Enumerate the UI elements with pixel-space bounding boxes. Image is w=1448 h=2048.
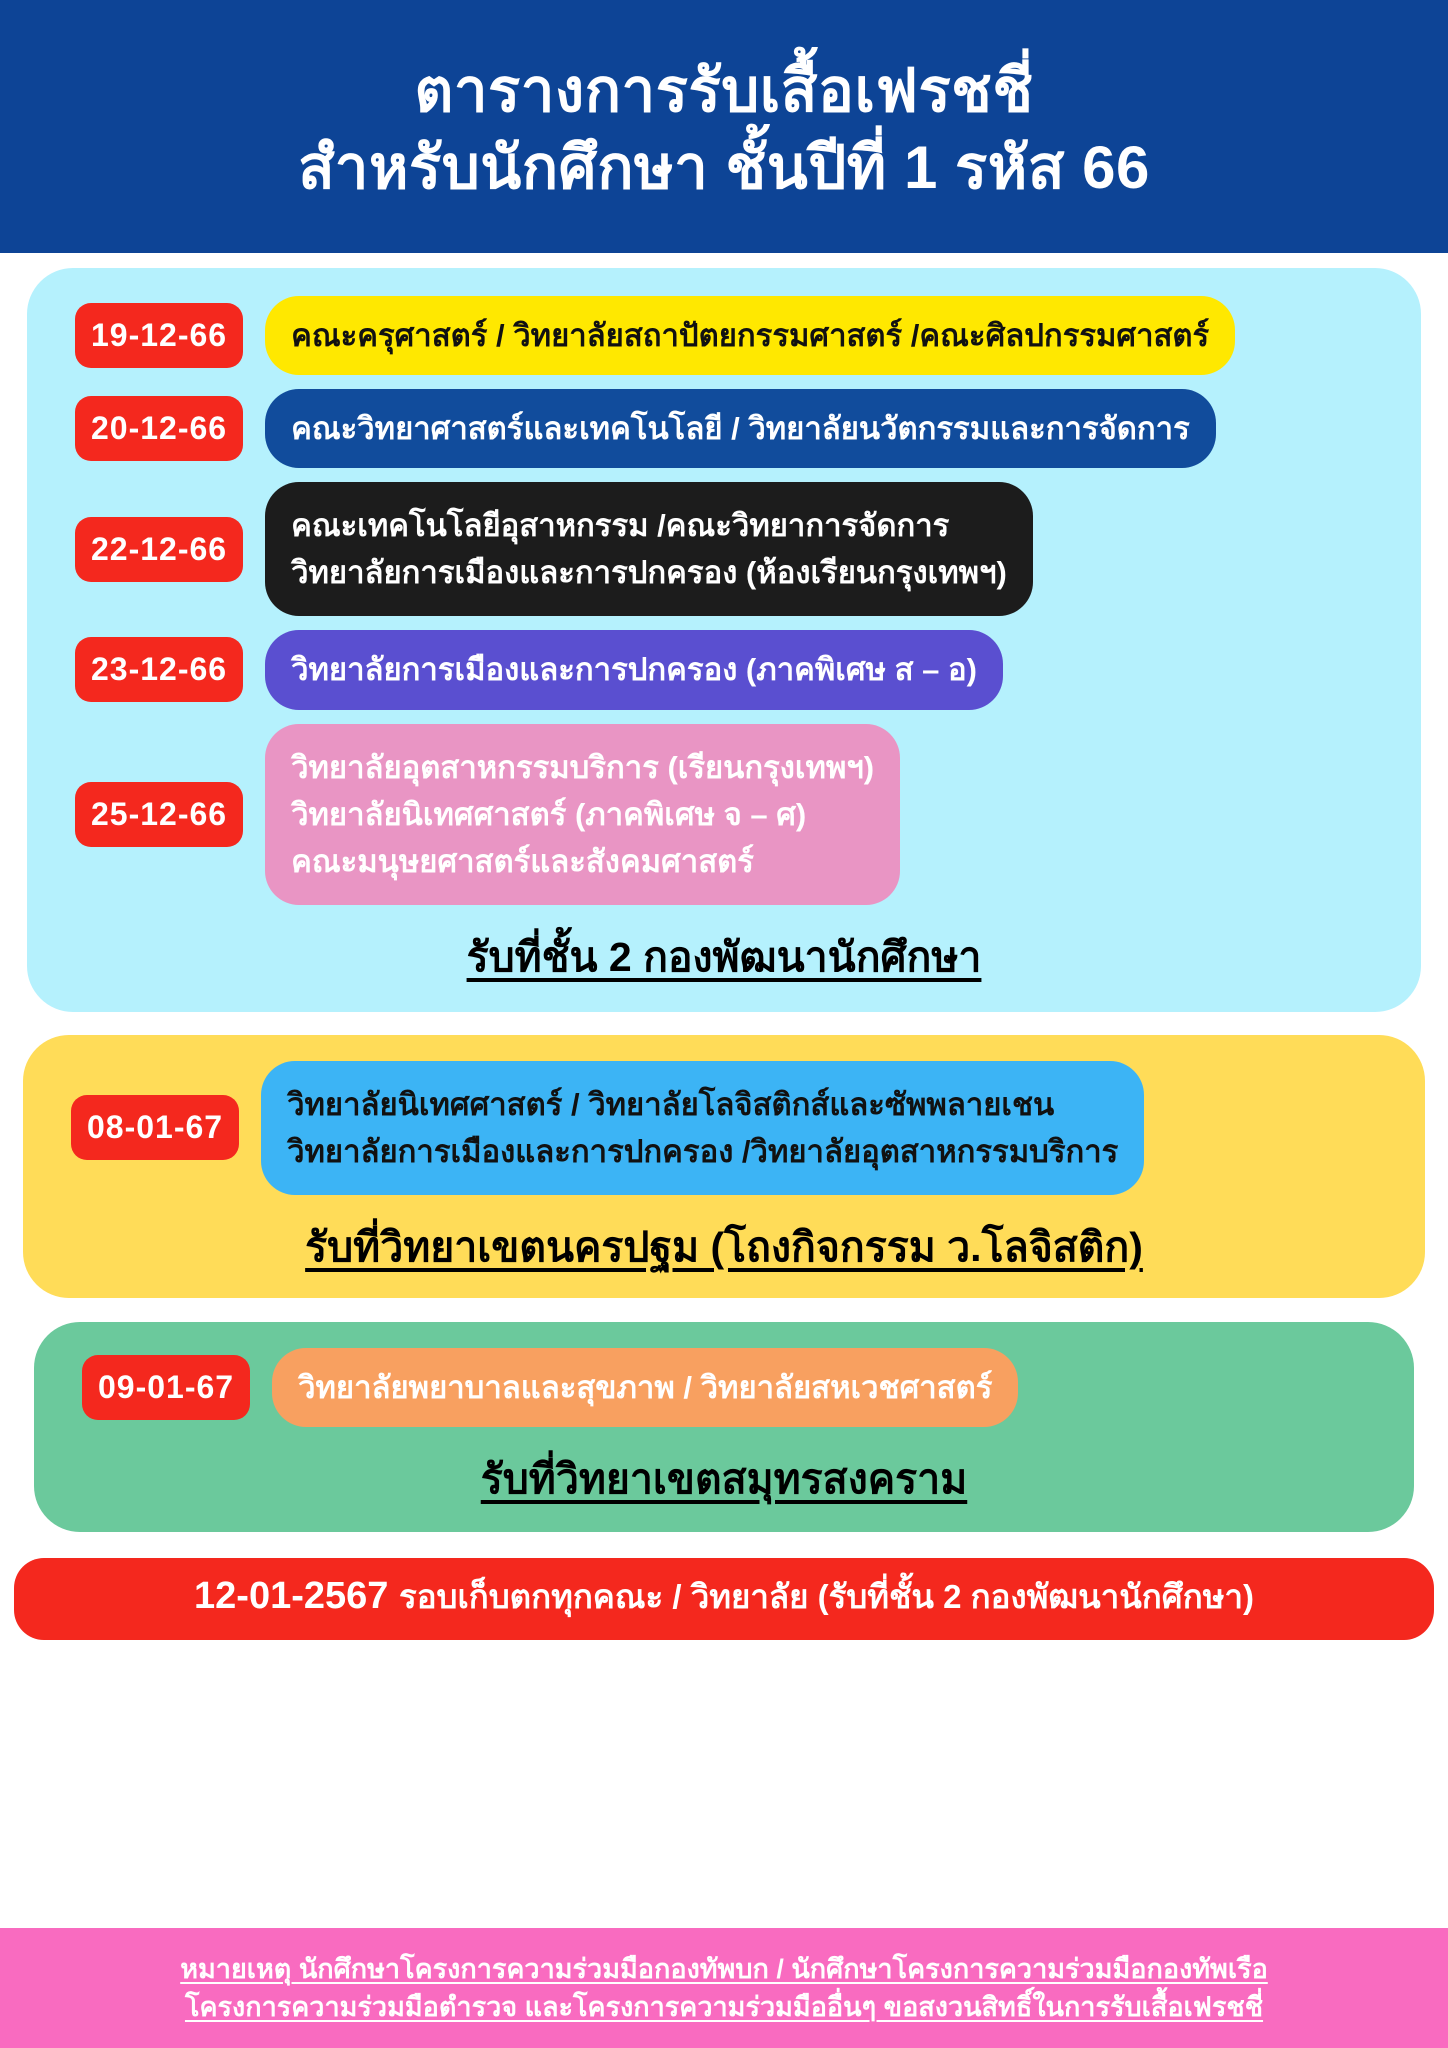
schedule-row: 20-12-66 คณะวิทยาศาสตร์และเทคโนโลยี / วิ… bbox=[27, 389, 1421, 468]
date-badge[interactable]: 20-12-66 bbox=[75, 396, 243, 461]
faculty-line: วิทยาลัยการเมืองและการปกครอง /วิทยาลัยอุ… bbox=[287, 1128, 1118, 1175]
makeup-round-detail: รอบเก็บตกทุกคณะ / วิทยาลัย (รับที่ชั้น 2… bbox=[399, 1578, 1254, 1615]
date-badge[interactable]: 09-01-67 bbox=[82, 1355, 250, 1420]
venue-label: รับที่วิทยาเขตนครปฐม (โถงกิจกรรม ว.โลจิส… bbox=[23, 1215, 1425, 1280]
schedule-row: 25-12-66 วิทยาลัยอุตสาหกรรมบริการ (เรียน… bbox=[27, 724, 1421, 905]
faculty-pill: วิทยาลัยพยาบาลและสุขภาพ / วิทยาลัยสหเวชศ… bbox=[272, 1348, 1018, 1427]
faculty-line: วิทยาลัยนิเทศศาสตร์ (ภาคพิเศษ จ – ศ) bbox=[291, 791, 874, 838]
faculty-pill: คณะเทคโนโลยีอุสาหกรรม /คณะวิทยาการจัดการ… bbox=[265, 482, 1033, 616]
faculty-line: คณะเทคโนโลยีอุสาหกรรม /คณะวิทยาการจัดการ bbox=[291, 502, 1007, 549]
venue-label: รับที่วิทยาเขตสมุทรสงคราม bbox=[34, 1447, 1414, 1512]
faculty-line: คณะวิทยาศาสตร์และเทคโนโลยี / วิทยาลัยนวั… bbox=[291, 405, 1190, 452]
footer-note-line-1: หมายเหตุ นักศึกษาโครงการความร่วมมือกองทั… bbox=[180, 1950, 1268, 1988]
makeup-round-date: 12-01-2567 bbox=[194, 1575, 388, 1617]
schedule-row: 09-01-67 วิทยาลัยพยาบาลและสุขภาพ / วิทยา… bbox=[34, 1348, 1414, 1427]
makeup-round-bar: 12-01-2567 รอบเก็บตกทุกคณะ / วิทยาลัย (ร… bbox=[14, 1558, 1434, 1640]
faculty-line: คณะครุศาสตร์ / วิทยาลัยสถาปัตยกรรมศาสตร์… bbox=[291, 312, 1209, 359]
page-title-line-2: สำหรับนักศึกษา ชั้นปีที่ 1 รหัส 66 bbox=[298, 130, 1150, 207]
faculty-line: วิทยาลัยนิเทศศาสตร์ / วิทยาลัยโลจิสติกส์… bbox=[287, 1081, 1118, 1128]
schedule-row: 19-12-66 คณะครุศาสตร์ / วิทยาลัยสถาปัตยก… bbox=[27, 296, 1421, 375]
footer-note-line-2: โครงการความร่วมมือตำรวจ และโครงการความร่… bbox=[185, 1988, 1263, 2026]
page-header: ตารางการรับเสื้อเฟรชชี่ สำหรับนักศึกษา ช… bbox=[0, 0, 1448, 253]
date-badge[interactable]: 25-12-66 bbox=[75, 782, 243, 847]
date-badge[interactable]: 22-12-66 bbox=[75, 517, 243, 582]
faculty-pill: วิทยาลัยอุตสาหกรรมบริการ (เรียนกรุงเทพฯ)… bbox=[265, 724, 900, 905]
date-badge[interactable]: 08-01-67 bbox=[71, 1095, 239, 1160]
faculty-line: วิทยาลัยการเมืองและการปกครอง (ห้องเรียนก… bbox=[291, 549, 1007, 596]
venue-label: รับที่ชั้น 2 กองพัฒนานักศึกษา bbox=[27, 925, 1421, 990]
makeup-round-text: 12-01-2567 รอบเก็บตกทุกคณะ / วิทยาลัย (ร… bbox=[14, 1574, 1434, 1620]
schedule-row: 22-12-66 คณะเทคโนโลยีอุสาหกรรม /คณะวิทยา… bbox=[27, 482, 1421, 616]
faculty-pill: วิทยาลัยการเมืองและการปกครอง (ภาคพิเศษ ส… bbox=[265, 630, 1003, 709]
footer-note: หมายเหตุ นักศึกษาโครงการความร่วมมือกองทั… bbox=[0, 1928, 1448, 2048]
faculty-pill: คณะครุศาสตร์ / วิทยาลัยสถาปัตยกรรมศาสตร์… bbox=[265, 296, 1235, 375]
faculty-line: วิทยาลัยพยาบาลและสุขภาพ / วิทยาลัยสหเวชศ… bbox=[298, 1364, 992, 1411]
schedule-section-yellow: 08-01-67 วิทยาลัยนิเทศศาสตร์ / วิทยาลัยโ… bbox=[23, 1035, 1425, 1298]
schedule-section-green: 09-01-67 วิทยาลัยพยาบาลและสุขภาพ / วิทยา… bbox=[34, 1322, 1414, 1532]
schedule-row: 08-01-67 วิทยาลัยนิเทศศาสตร์ / วิทยาลัยโ… bbox=[23, 1061, 1425, 1195]
faculty-line: วิทยาลัยการเมืองและการปกครอง (ภาคพิเศษ ส… bbox=[291, 646, 977, 693]
faculty-line: วิทยาลัยอุตสาหกรรมบริการ (เรียนกรุงเทพฯ) bbox=[291, 744, 874, 791]
date-badge[interactable]: 19-12-66 bbox=[75, 303, 243, 368]
faculty-line: คณะมนุษยศาสตร์และสังคมศาสตร์ bbox=[291, 838, 874, 885]
faculty-pill: คณะวิทยาศาสตร์และเทคโนโลยี / วิทยาลัยนวั… bbox=[265, 389, 1216, 468]
page-title-line-1: ตารางการรับเสื้อเฟรชชี่ bbox=[414, 53, 1033, 130]
schedule-section-cyan: 19-12-66 คณะครุศาสตร์ / วิทยาลัยสถาปัตยก… bbox=[27, 268, 1421, 1012]
faculty-pill: วิทยาลัยนิเทศศาสตร์ / วิทยาลัยโลจิสติกส์… bbox=[261, 1061, 1144, 1195]
date-badge[interactable]: 23-12-66 bbox=[75, 637, 243, 702]
schedule-row: 23-12-66 วิทยาลัยการเมืองและการปกครอง (ภ… bbox=[27, 630, 1421, 709]
